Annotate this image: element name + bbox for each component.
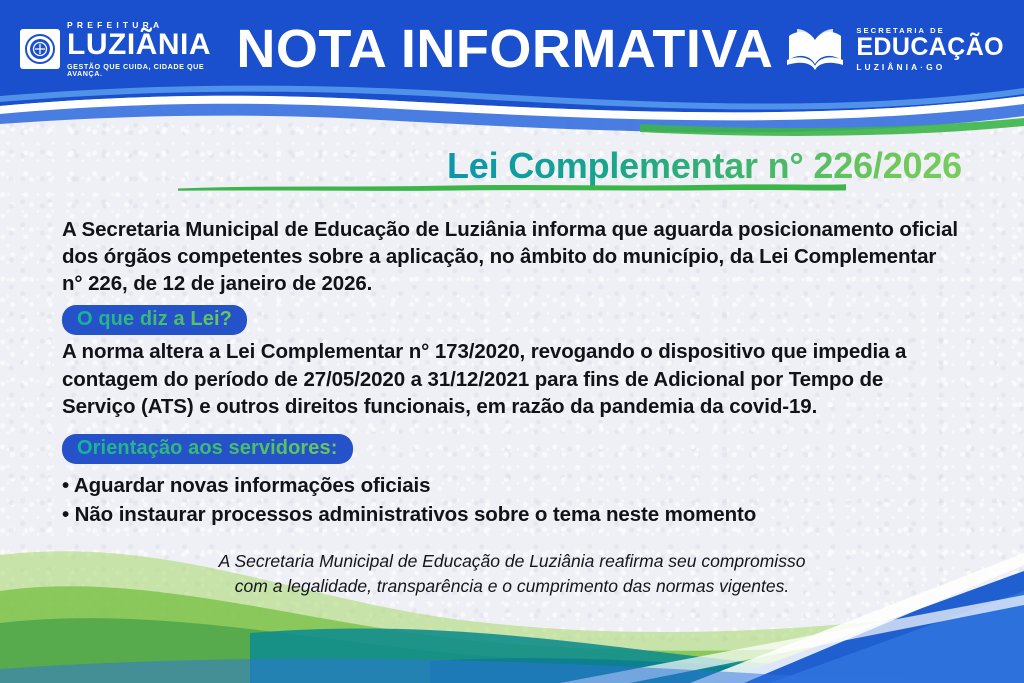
paragraph-one: A Secretaria Municipal de Educação de Lu… — [62, 216, 962, 298]
educacao-logo: SECRETARIA DE EDUCAÇÃO LUZIÂNIA·GO — [783, 26, 1004, 72]
notice-content: Lei Complementar n° 226/2026 A Secretari… — [0, 132, 1024, 599]
informative-notice-poster: PREFEITURA LUZIÃNIA GESTÃO QUE CUIDA, CI… — [0, 0, 1024, 683]
guidance-bullet-list: • Aguardar novas informações oficiais • … — [62, 471, 962, 529]
educacao-sub: LUZIÂNIA·GO — [856, 63, 1004, 71]
poster-title: NOTA INFORMATIVA — [236, 18, 773, 80]
paragraph-two: A norma altera a Lei Complementar n° 173… — [62, 338, 962, 420]
list-item: • Não instaurar processos administrativo… — [62, 500, 962, 529]
badge-one-label: O que diz a Lei? — [77, 308, 232, 330]
prefeitura-logo: PREFEITURA LUZIÃNIA GESTÃO QUE CUIDA, CI… — [20, 21, 226, 77]
badge-two-label: Orientação aos servidores: — [77, 437, 338, 459]
closing-line-one: A Secretaria Municipal de Educação de Lu… — [104, 549, 920, 574]
document-title-row: Lei Complementar n° 226/2026 — [62, 146, 962, 186]
header: PREFEITURA LUZIÃNIA GESTÃO QUE CUIDA, CI… — [0, 0, 1024, 140]
prefeitura-tagline: GESTÃO QUE CUIDA, CIDADE QUE AVANÇA. — [67, 63, 226, 77]
closing-statement: A Secretaria Municipal de Educação de Lu… — [62, 549, 962, 599]
list-item: • Aguardar novas informações oficiais — [62, 471, 962, 500]
badge-o-que-diz-a-lei: O que diz a Lei? — [62, 305, 247, 335]
badge-orientacao-aos-servidores: Orientação aos servidores: — [62, 434, 353, 464]
open-book-icon — [783, 26, 847, 72]
city-seal-icon — [20, 29, 60, 69]
educacao-main: EDUCAÇÃO — [856, 36, 1004, 60]
document-title: Lei Complementar n° 226/2026 — [447, 146, 962, 186]
prefeitura-city: LUZIÃNIA — [67, 31, 226, 60]
closing-line-two: com a legalidade, transparência e o cump… — [104, 574, 920, 599]
